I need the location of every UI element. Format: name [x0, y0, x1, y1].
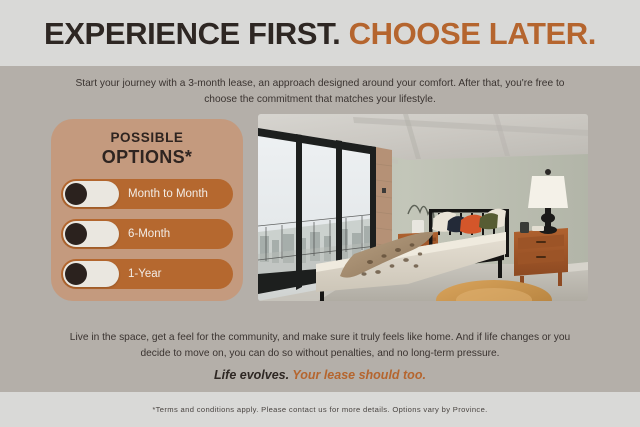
header-band: EXPERIENCE FIRST. CHOOSE LATER. [0, 0, 640, 66]
toggle-row-1-year[interactable]: 1-Year [61, 259, 233, 289]
toggle-label-6-month: 6-Month [128, 228, 170, 240]
poster: EXPERIENCE FIRST. CHOOSE LATER. Start yo… [0, 0, 640, 427]
disclaimer-text: *Terms and conditions apply. Please cont… [152, 405, 487, 414]
toggle-switch-6-month[interactable] [63, 221, 119, 247]
intro-paragraph: Start your journey with a 3-month lease,… [60, 76, 580, 108]
options-card-title: POSSIBLE OPTIONS* [51, 131, 243, 166]
tagline-accent: Your lease should too. [292, 368, 426, 382]
toggle-switch-month-to-month[interactable] [63, 181, 119, 207]
options-title-line2: OPTIONS* [51, 148, 243, 166]
footer-band: *Terms and conditions apply. Please cont… [0, 392, 640, 427]
toggle-list: Month to Month 6-Month 1-Year [51, 179, 243, 289]
toggle-knob-icon [65, 263, 87, 285]
tagline-dark: Life evolves. [214, 368, 289, 382]
tagline: Life evolves. Your lease should too. [0, 368, 640, 382]
toggle-row-6-month[interactable]: 6-Month [61, 219, 233, 249]
options-card: POSSIBLE OPTIONS* Month to Month 6-Month [51, 119, 243, 301]
bedroom-photo-graphic [258, 114, 588, 301]
bedroom-photo [258, 114, 588, 301]
options-title-line1: POSSIBLE [51, 131, 243, 145]
toggle-knob-icon [65, 183, 87, 205]
page-title: EXPERIENCE FIRST. CHOOSE LATER. [44, 18, 596, 49]
toggle-label-1-year: 1-Year [128, 268, 161, 280]
headline-accent: CHOOSE LATER. [349, 16, 596, 51]
toggle-switch-1-year[interactable] [63, 261, 119, 287]
toggle-label-month-to-month: Month to Month [128, 188, 208, 200]
lower-paragraph: Live in the space, get a feel for the co… [60, 330, 580, 362]
toggle-row-month-to-month[interactable]: Month to Month [61, 179, 233, 209]
headline-dark: EXPERIENCE FIRST. [44, 16, 340, 51]
toggle-knob-icon [65, 223, 87, 245]
